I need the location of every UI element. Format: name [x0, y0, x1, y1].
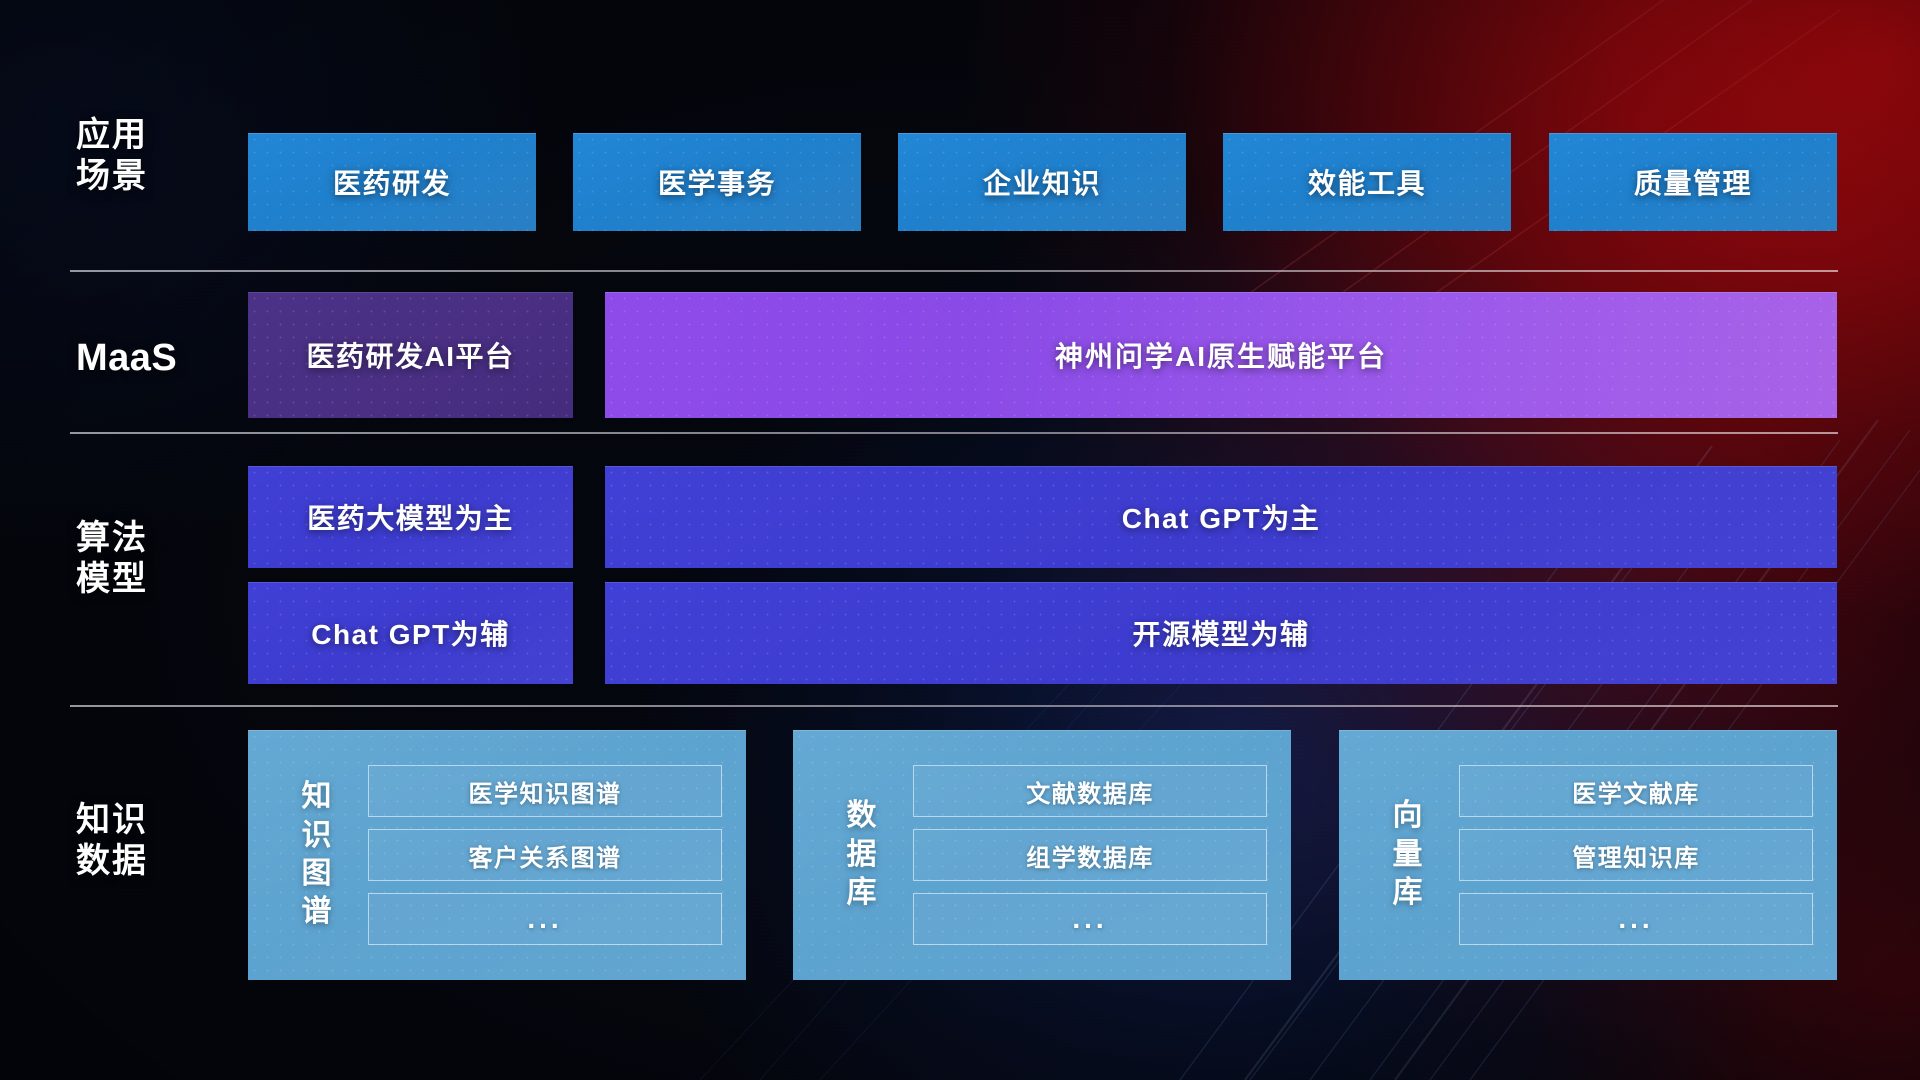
maas-box-label: 医药研发AI平台 — [306, 335, 514, 375]
app-box-enterprise-knowledge[interactable]: 企业知识 — [898, 133, 1186, 231]
panel-title-char: 谱 — [276, 893, 358, 931]
architecture-diagram: 应用 场景 医药研发 医学事务 企业知识 效能工具 质量管理 — [0, 0, 1920, 1080]
row-label-algorithm: 算法 模型 — [76, 518, 256, 601]
knowledge-item-more[interactable]: ... — [1459, 893, 1813, 945]
divider-application-maas — [70, 270, 1838, 272]
knowledge-panel-database[interactable]: 数 据 库 文献数据库 组学数据库 ... — [793, 730, 1291, 980]
row-label-application-line1: 应用 — [76, 115, 256, 156]
knowledge-panel-items: 文献数据库 组学数据库 ... — [903, 747, 1291, 963]
app-box-medical-affairs[interactable]: 医学事务 — [573, 133, 861, 231]
knowledge-item[interactable]: 组学数据库 — [913, 829, 1267, 881]
app-box-label: 医药研发 — [333, 162, 451, 202]
row-label-application-line2: 场景 — [76, 156, 256, 197]
app-box-label: 质量管理 — [1634, 162, 1752, 202]
row-label-maas-line1: MaaS — [76, 335, 256, 381]
row-label-maas: MaaS — [76, 335, 256, 381]
knowledge-item-more[interactable]: ... — [913, 893, 1267, 945]
knowledge-panel-vector-store[interactable]: 向 量 库 医学文献库 管理知识库 ... — [1339, 730, 1837, 980]
algo-box-chatgpt-secondary[interactable]: Chat GPT为辅 — [248, 582, 573, 684]
maas-bar-label: 神州问学AI原生赋能平台 — [1055, 335, 1387, 375]
algo-box-label: 医药大模型为主 — [307, 497, 514, 537]
knowledge-panel-title: 向 量 库 — [1367, 797, 1449, 912]
panel-title-char: 数 — [821, 797, 903, 835]
panel-title-char: 向 — [1367, 797, 1449, 835]
algo-box-label: Chat GPT为辅 — [311, 613, 510, 653]
app-box-label: 医学事务 — [658, 162, 776, 202]
knowledge-panel-items: 医学文献库 管理知识库 ... — [1449, 747, 1837, 963]
knowledge-item[interactable]: 文献数据库 — [913, 765, 1267, 817]
knowledge-item[interactable]: 管理知识库 — [1459, 829, 1813, 881]
maas-box-pharma-ai-platform[interactable]: 医药研发AI平台 — [248, 292, 573, 418]
row-label-application: 应用 场景 — [76, 115, 256, 198]
algo-box-pharma-large-model-primary[interactable]: 医药大模型为主 — [248, 466, 573, 568]
panel-title-char: 据 — [821, 836, 903, 874]
knowledge-panel-items: 医学知识图谱 客户关系图谱 ... — [358, 747, 746, 963]
divider-algorithm-knowledge — [70, 705, 1838, 707]
knowledge-item-more[interactable]: ... — [368, 893, 722, 945]
app-box-label: 企业知识 — [983, 162, 1101, 202]
panel-title-char: 识 — [276, 817, 358, 855]
knowledge-panel-knowledge-graph[interactable]: 知 识 图 谱 医学知识图谱 客户关系图谱 ... — [248, 730, 746, 980]
row-label-knowledge: 知识 数据 — [76, 800, 256, 883]
app-box-quality-management[interactable]: 质量管理 — [1549, 133, 1837, 231]
maas-bar-shenzhou-wenxue-platform[interactable]: 神州问学AI原生赋能平台 — [605, 292, 1837, 418]
panel-title-char: 量 — [1367, 836, 1449, 874]
app-box-efficiency-tools[interactable]: 效能工具 — [1223, 133, 1511, 231]
divider-maas-algorithm — [70, 432, 1838, 434]
panel-title-char: 知 — [276, 778, 358, 816]
knowledge-panel-title: 知 识 图 谱 — [276, 778, 358, 932]
panel-title-char: 库 — [821, 874, 903, 912]
algo-bar-label: Chat GPT为主 — [1122, 497, 1321, 537]
algo-bar-label: 开源模型为辅 — [1132, 613, 1309, 653]
knowledge-item[interactable]: 医学文献库 — [1459, 765, 1813, 817]
knowledge-panel-title: 数 据 库 — [821, 797, 903, 912]
app-box-pharma-rd[interactable]: 医药研发 — [248, 133, 536, 231]
row-label-algorithm-line2: 模型 — [76, 559, 256, 600]
app-box-label: 效能工具 — [1308, 162, 1426, 202]
knowledge-item[interactable]: 医学知识图谱 — [368, 765, 722, 817]
row-label-knowledge-line1: 知识 — [76, 800, 256, 841]
knowledge-item[interactable]: 客户关系图谱 — [368, 829, 722, 881]
row-label-knowledge-line2: 数据 — [76, 841, 256, 882]
panel-title-char: 库 — [1367, 874, 1449, 912]
algo-bar-opensource-model-secondary[interactable]: 开源模型为辅 — [605, 582, 1837, 684]
row-label-algorithm-line1: 算法 — [76, 518, 256, 559]
panel-title-char: 图 — [276, 855, 358, 893]
algo-bar-chatgpt-primary[interactable]: Chat GPT为主 — [605, 466, 1837, 568]
